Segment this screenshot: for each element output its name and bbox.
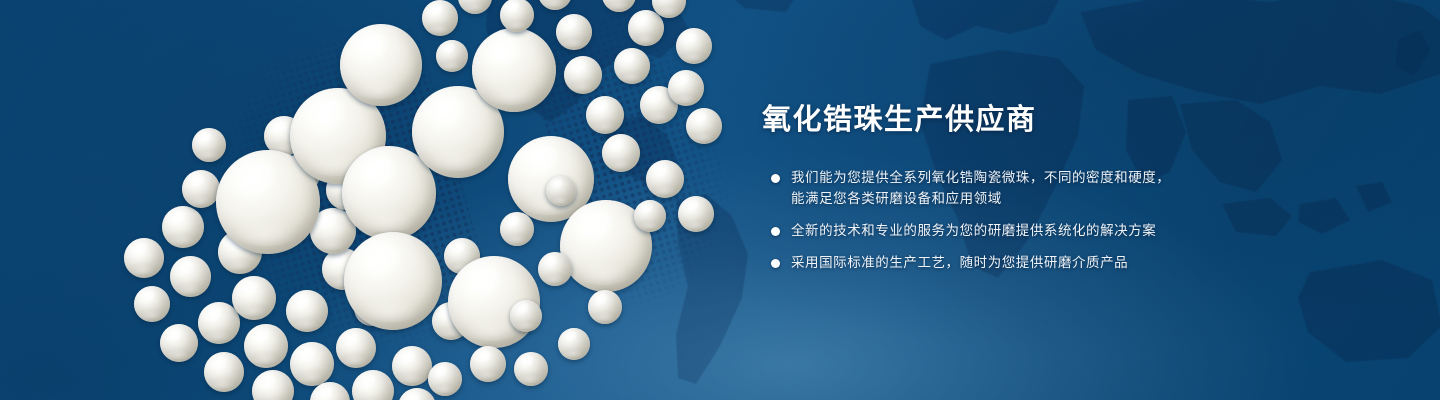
banner-text-content: 氧化锆珠生产供应商 我们能为您提供全系列氧化锆陶瓷微珠，不同的密度和硬度， 能满…	[762, 104, 1232, 274]
feature-text-line: 采用国际标准的生产工艺，随时为您提供研磨介质产品	[791, 253, 1232, 274]
feature-text-line: 能满足您各类研磨设备和应用领域	[791, 189, 1232, 210]
dot-bullet-icon	[771, 174, 780, 183]
hero-banner: 氧化锆珠生产供应商 我们能为您提供全系列氧化锆陶瓷微珠，不同的密度和硬度， 能满…	[0, 0, 1440, 400]
dot-bullet-icon	[771, 227, 780, 236]
feature-text-line: 我们能为您提供全系列氧化锆陶瓷微珠，不同的密度和硬度，	[791, 168, 1232, 189]
banner-headline: 氧化锆珠生产供应商	[762, 104, 1232, 136]
feature-list-item: 全新的技术和专业的服务为您的研磨提供系统化的解决方案	[762, 221, 1232, 242]
banner-feature-list: 我们能为您提供全系列氧化锆陶瓷微珠，不同的密度和硬度， 能满足您各类研磨设备和应…	[762, 168, 1232, 274]
feature-list-item: 我们能为您提供全系列氧化锆陶瓷微珠，不同的密度和硬度， 能满足您各类研磨设备和应…	[762, 168, 1232, 210]
feature-list-item: 采用国际标准的生产工艺，随时为您提供研磨介质产品	[762, 253, 1232, 274]
dot-bullet-icon	[771, 259, 780, 268]
feature-text-line: 全新的技术和专业的服务为您的研磨提供系统化的解决方案	[791, 221, 1232, 242]
